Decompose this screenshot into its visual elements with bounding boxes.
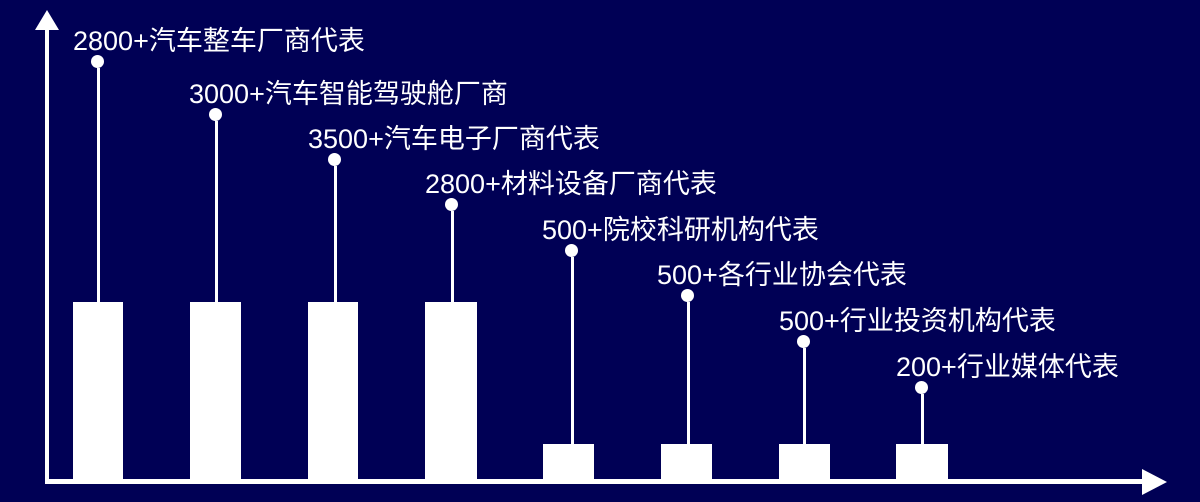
bar-3 [308,302,358,481]
callout-dot-icon-7 [797,335,810,348]
bar-5 [543,444,594,481]
callout-dot-icon-1 [91,55,104,68]
callout-dot-icon-2 [209,108,222,121]
callout-dot-icon-8 [915,381,928,394]
callout-stem-5 [571,257,574,444]
x-axis-arrow-icon [1142,469,1167,495]
callout-stem-8 [921,394,924,444]
callout-stem-7 [803,348,806,444]
bar-2 [190,302,241,481]
bar-4 [425,302,477,481]
callout-dot-icon-3 [328,153,341,166]
callout-stem-4 [451,211,454,302]
callout-dot-icon-4 [445,198,458,211]
bar-7 [779,444,830,481]
callout-label-8: 200+行业媒体代表 [896,352,1119,382]
bar-8 [896,444,948,481]
callout-stem-1 [97,68,100,302]
callout-label-4: 2800+材料设备厂商代表 [425,169,717,199]
y-axis-arrow-icon [35,10,59,30]
bar-6 [661,444,712,481]
bar-1 [73,302,123,481]
callout-label-5: 500+院校科研机构代表 [542,215,819,245]
y-axis-line [45,26,49,483]
callout-dot-icon-5 [565,244,578,257]
callout-stem-3 [334,166,337,302]
callout-label-2: 3000+汽车智能驾驶舱厂商 [189,79,508,109]
callout-stem-2 [215,121,218,302]
callout-label-7: 500+行业投资机构代表 [779,306,1056,336]
callout-label-6: 500+各行业协会代表 [657,260,907,290]
callout-label-3: 3500+汽车电子厂商代表 [308,124,600,154]
callout-dot-icon-6 [681,289,694,302]
callout-stem-6 [687,302,690,444]
callout-label-1: 2800+汽车整车厂商代表 [73,26,365,56]
bar-chart-canvas: 2800+汽车整车厂商代表3000+汽车智能驾驶舱厂商3500+汽车电子厂商代表… [0,0,1200,502]
